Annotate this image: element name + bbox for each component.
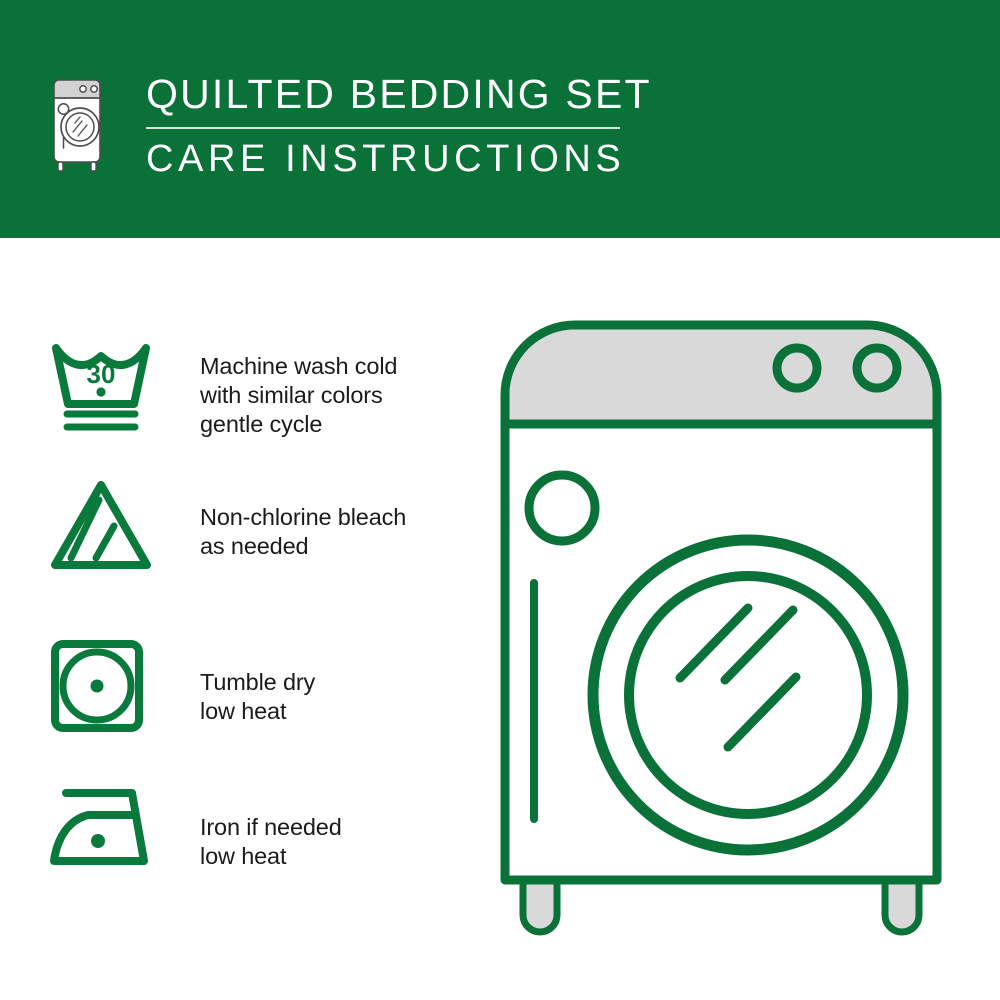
page-title: QUILTED BEDDING SET [146, 70, 686, 118]
title-divider [146, 127, 620, 129]
care-text-dry: Tumble dry low heat [200, 668, 315, 726]
care-row-dry: Tumble dry low heat [0, 638, 480, 758]
wash-temperature-label: 30 [87, 359, 116, 389]
tumble-dry-low-icon [48, 638, 146, 739]
page-subtitle: CARE INSTRUCTIONS [146, 136, 686, 182]
header-banner: QUILTED BEDDING SET CARE INSTRUCTIONS [0, 0, 1000, 238]
care-row-wash: 30 Machine wash cold with similar colors… [0, 338, 480, 458]
detergent-dial [529, 475, 595, 541]
care-row-iron: Iron if needed low heat [0, 783, 480, 903]
iron-low-heat-icon [48, 783, 160, 874]
washing-machine-illustration [480, 300, 980, 940]
knob-left [777, 348, 817, 388]
care-row-bleach: Non-chlorine bleach as needed [0, 478, 480, 598]
care-instructions-page: QUILTED BEDDING SET CARE INSTRUCTIONS 30… [0, 0, 1000, 1000]
knob-right [857, 348, 897, 388]
washing-machine-icon [44, 72, 108, 176]
care-instruction-list: 30 Machine wash cold with similar colors… [0, 238, 480, 1000]
header-text-block: QUILTED BEDDING SET CARE INSTRUCTIONS [146, 70, 686, 182]
care-text-iron: Iron if needed low heat [200, 813, 342, 871]
bleach-triangle-icon [48, 478, 154, 577]
wash-tub-30-icon: 30 [48, 338, 154, 439]
care-text-bleach: Non-chlorine bleach as needed [200, 503, 406, 561]
care-text-wash: Machine wash cold with similar colors ge… [200, 352, 397, 439]
